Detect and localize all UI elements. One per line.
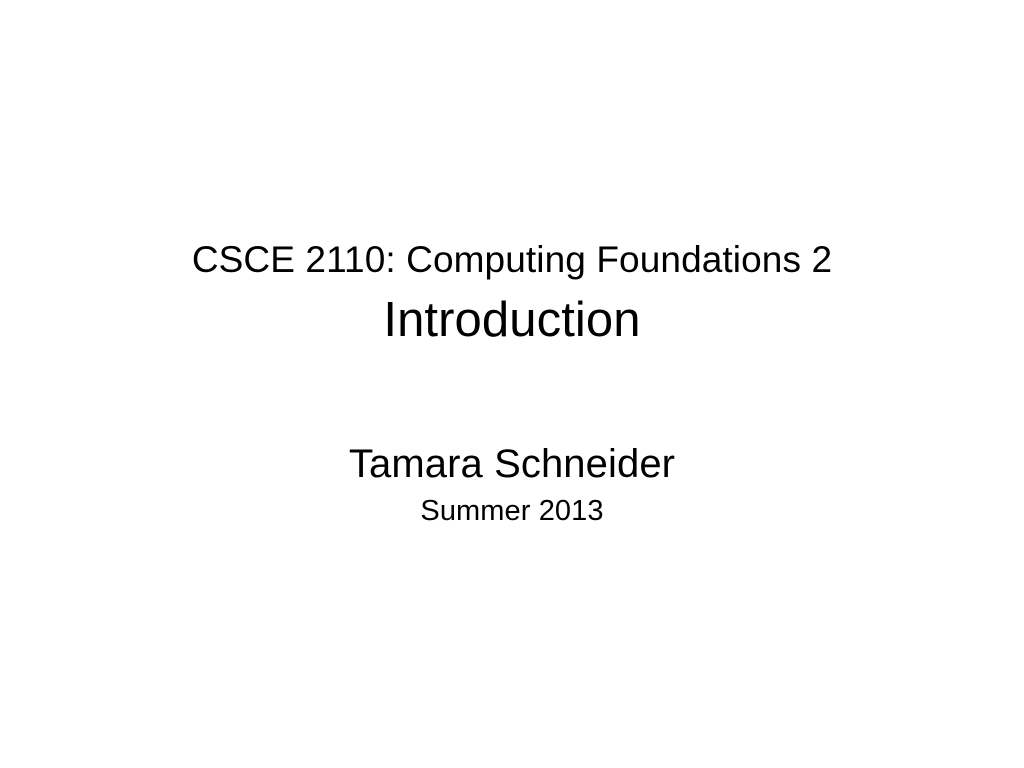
presentation-slide: CSCE 2110: Computing Foundations 2 Intro… — [0, 0, 1024, 768]
slide-title-placeholder: CSCE 2110: Computing Foundations 2 Intro… — [0, 232, 1024, 352]
term-label: Summer 2013 — [0, 491, 1024, 531]
topic-title-line: Introduction — [0, 288, 1024, 352]
course-title-line: CSCE 2110: Computing Foundations 2 — [0, 232, 1024, 288]
presenter-name: Tamara Schneider — [0, 437, 1024, 491]
slide-subtitle-placeholder: Tamara Schneider Summer 2013 — [0, 437, 1024, 531]
